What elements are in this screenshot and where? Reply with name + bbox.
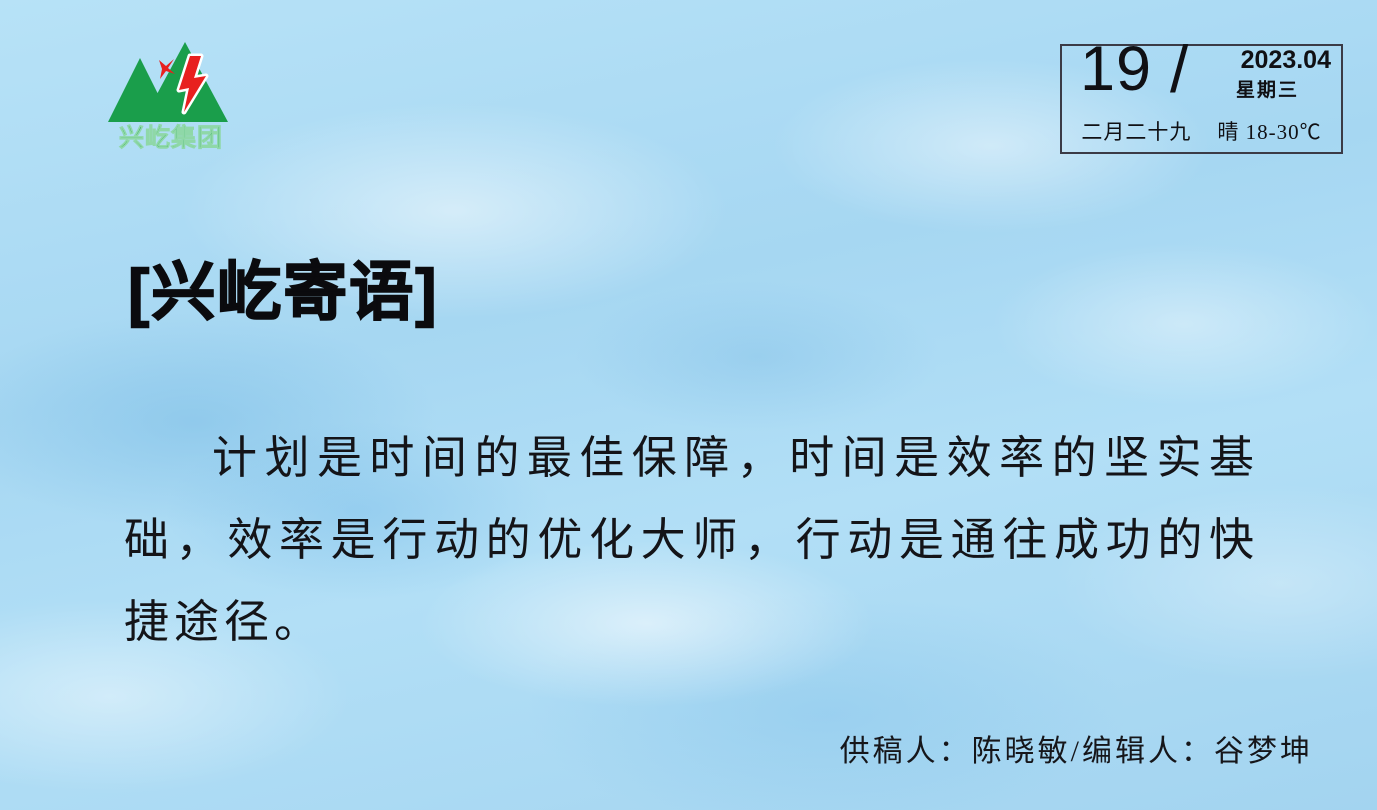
date-card: 19 / 2023.04 星期三 二月二十九 晴 18-30℃ — [1060, 44, 1343, 154]
credits-line: 供稿人：陈晓敏/编辑人：谷梦坤 — [840, 726, 1313, 770]
date-weekday: 星期三 — [1236, 81, 1299, 100]
daily-quote-poster: 兴屹集团 19 / 2023.04 星期三 二月二十九 晴 18-30℃ [兴屹… — [0, 0, 1377, 810]
date-card-bottom: 二月二十九 晴 18-30℃ — [1062, 116, 1341, 146]
date-day: 19 — [1080, 38, 1152, 101]
logo-brand-text: 兴屹集团 — [119, 123, 223, 152]
weather-info: 晴 18-30℃ — [1217, 116, 1321, 146]
quote-body: 计划是时间的最佳保障，时间是效率的坚实基础，效率是行动的优化大师，行动是通往成功… — [124, 417, 1259, 663]
page-title: [兴屹寄语] — [128, 256, 439, 330]
date-card-top: 19 / 2023.04 星期三 — [1062, 46, 1341, 120]
date-year-month: 2023.04 — [1241, 48, 1331, 73]
lunar-date: 二月二十九 — [1081, 116, 1191, 146]
company-logo: 兴屹集团 — [96, 34, 246, 156]
mountain-icon — [108, 42, 228, 122]
date-separator: / — [1170, 36, 1188, 102]
